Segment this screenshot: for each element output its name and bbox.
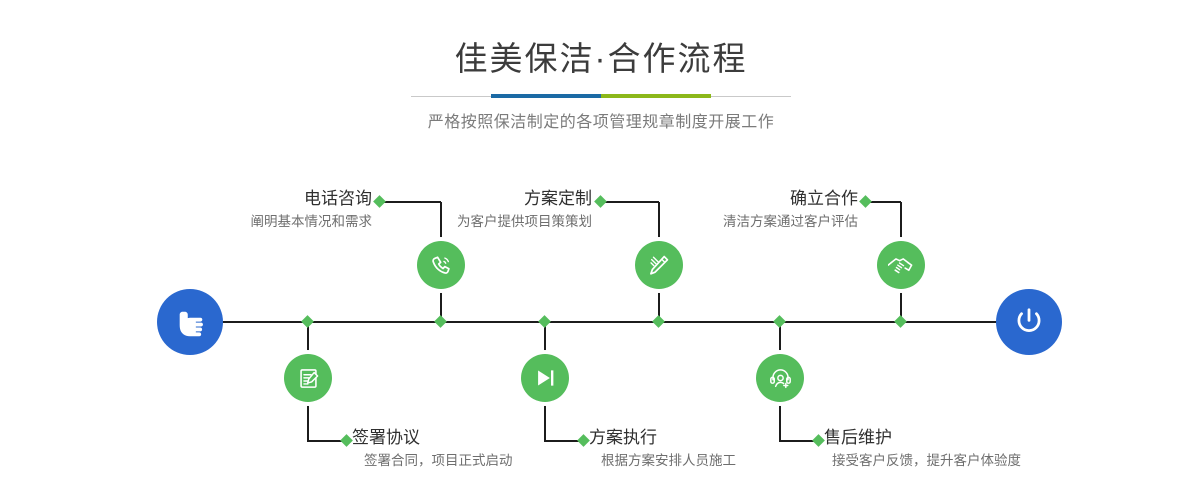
step-icon-phone-call[interactable] (417, 241, 465, 289)
end-node[interactable] (996, 289, 1062, 355)
handshake-icon (888, 252, 915, 279)
step-icon-sign-document[interactable] (284, 354, 332, 402)
header: 佳美保洁·合作流程 严格按照保洁制定的各项管理规章制度开展工作 (0, 0, 1202, 132)
label-marker-top-3 (859, 195, 872, 208)
step-label-bottom-3: 售后维护 接受客户反馈，提升客户体验度 (824, 427, 1164, 470)
step-label-top-2: 方案定制 为客户提供项目策策划 (290, 188, 592, 231)
axis-marker-bottom-3 (773, 315, 786, 328)
axis-marker-bottom-1 (301, 315, 314, 328)
divider-segment-blue (491, 94, 601, 98)
flow-diagram-canvas: 佳美保洁·合作流程 严格按照保洁制定的各项管理规章制度开展工作 电话咨询 (0, 0, 1202, 502)
pointing-hand-icon (173, 305, 207, 339)
start-node[interactable] (157, 289, 223, 355)
step-icon-handshake[interactable] (877, 241, 925, 289)
axis-marker-top-3 (894, 315, 907, 328)
step-title: 方案定制 (290, 188, 592, 209)
phone-call-icon (428, 252, 454, 278)
label-marker-bottom-1 (340, 434, 353, 447)
play-skip-icon (532, 365, 558, 391)
sign-document-icon (296, 366, 321, 391)
axis-marker-top-2 (652, 315, 665, 328)
axis-marker-bottom-2 (538, 315, 551, 328)
step-icon-play-skip[interactable] (521, 354, 569, 402)
step-title: 确立合作 (560, 188, 858, 209)
axis-marker-top-1 (434, 315, 447, 328)
step-icon-customer-service[interactable] (756, 354, 804, 402)
step-label-top-3: 确立合作 清洁方案通过客户评估 (560, 188, 858, 231)
divider-segment-green (601, 94, 711, 98)
power-icon (1012, 305, 1046, 339)
step-desc: 为客户提供项目策策划 (290, 212, 592, 231)
step-icon-pencil-edit[interactable] (635, 241, 683, 289)
page-title: 佳美保洁·合作流程 (0, 0, 1202, 80)
page-subtitle: 严格按照保洁制定的各项管理规章制度开展工作 (0, 108, 1202, 132)
step-desc: 接受客户反馈，提升客户体验度 (832, 451, 1164, 470)
customer-service-icon (768, 366, 793, 391)
step-desc: 清洁方案通过客户评估 (560, 212, 858, 231)
branch-elbow-top-3 (869, 201, 901, 203)
step-title: 售后维护 (824, 427, 1164, 448)
title-divider (411, 94, 791, 98)
pencil-edit-icon (646, 252, 672, 278)
